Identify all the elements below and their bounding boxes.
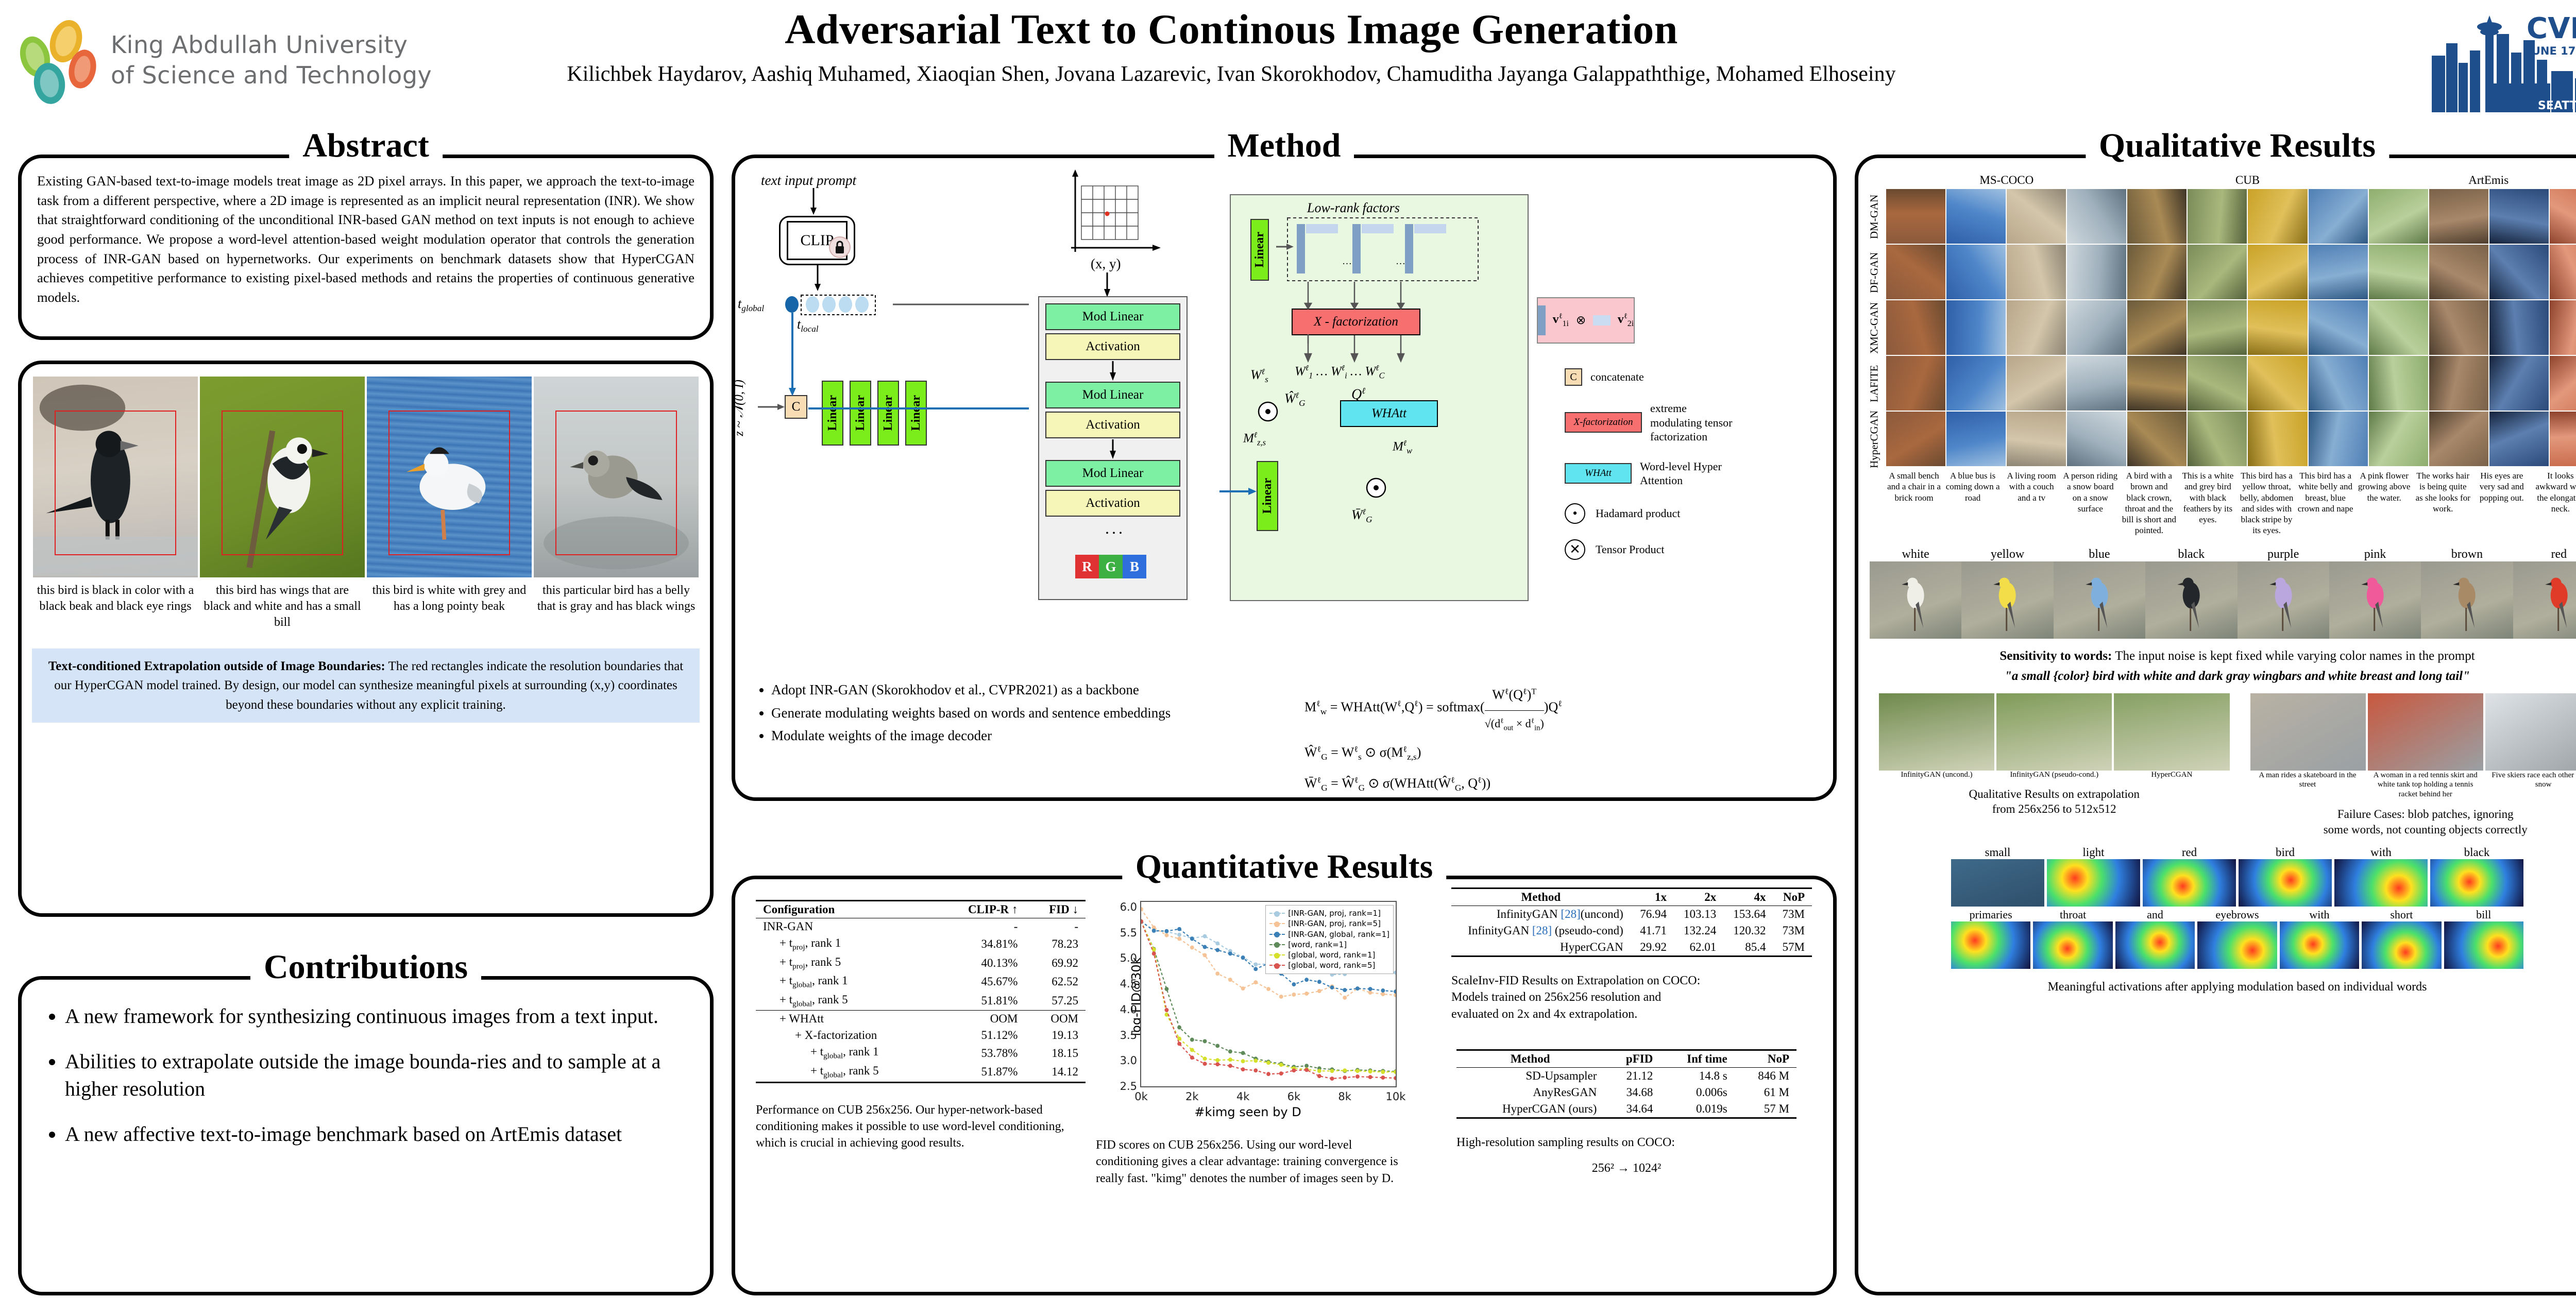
qualitative-generated-image xyxy=(2550,412,2576,466)
legend-row-tensor: ✕ Tensor Product xyxy=(1565,539,1738,560)
activation-word: eyebrows xyxy=(2197,908,2277,921)
scaleinv-caption-1: ScaleInv-FID Results on Extrapolation on… xyxy=(1451,972,1812,989)
arrow-dec-2-icon xyxy=(1108,439,1118,459)
method-section: Method text input prompt CLIP tglobal xyxy=(732,155,1837,801)
abstract-body: Existing GAN-based text-to-image models … xyxy=(22,158,710,307)
table-row: INR-GAN -- xyxy=(756,918,1086,935)
scaleinv-table-wrap: Method 1x 2x 4x NoP InfinityGAN [28](unc… xyxy=(1451,887,1812,1022)
column-header: 2x xyxy=(1674,889,1723,906)
qualitative-generated-image xyxy=(2067,300,2126,355)
qualitative-grid-row xyxy=(1886,189,2576,244)
legend-tensor-text: Tensor Product xyxy=(1596,543,1665,556)
color-bird-strip xyxy=(1870,561,2576,639)
cell-config: + tglobal, rank 5 xyxy=(756,1063,936,1082)
color-word: brown xyxy=(2421,548,2513,561)
tensor-product-icon: ⊗ xyxy=(1576,314,1586,327)
bird-caption-2: this bird has wings that are black and w… xyxy=(200,577,365,631)
cell-fid: OOM xyxy=(1025,1011,1086,1028)
cell-fid: 78.23 xyxy=(1025,935,1086,954)
subcap-2: A blue bus is coming down a road xyxy=(1945,470,2001,536)
v1-letter: v xyxy=(1553,313,1559,326)
t-global-label: tglobal xyxy=(738,296,764,314)
tensor-product-panel: vℓ1i ⊗ vℓ2i xyxy=(1537,297,1635,344)
chart-legend-item: [INR-GAN, global, rank=1] xyxy=(1269,929,1389,940)
failure-image xyxy=(2368,693,2483,771)
kaust-line-2: of Science and Technology xyxy=(111,60,432,91)
cell-pfid: 21.12 xyxy=(1604,1068,1660,1085)
equation-1: Mℓw = WHAtt(Wℓ,Qℓ) = softmax( Wℓ(Qℓ)T √(… xyxy=(1304,679,1562,737)
chart-ytick: 5.0 xyxy=(1120,952,1137,964)
qualitative-generated-image xyxy=(2489,189,2549,244)
what-hat-label: ŴℓG xyxy=(1284,391,1306,408)
activation-word: bird xyxy=(2239,846,2332,859)
author-list: Kilichbek Haydarov, Aashiq Muhamed, Xiao… xyxy=(453,62,2009,87)
cell-nop: 846 M xyxy=(1735,1068,1797,1085)
table-row: + tglobal, rank 5 51.87%14.12 xyxy=(756,1063,1086,1082)
svg-text:JUNE 17-21, 2024: JUNE 17-21, 2024 xyxy=(2527,45,2576,57)
activation-word: black xyxy=(2430,846,2523,859)
subcap-6: This is a white and grey bird with black… xyxy=(2180,470,2235,536)
failure-text: A woman in a red tennis skirt and white … xyxy=(2368,771,2483,799)
table-row: InfinityGAN [28](uncond) 76.94103.13 153… xyxy=(1451,906,1812,923)
cell-inf: 0.006s xyxy=(1660,1084,1734,1101)
cell-nop: 57M xyxy=(1773,939,1812,957)
list-item: Generate modulating weights based on wor… xyxy=(771,702,1171,725)
activation-heatmap xyxy=(2033,921,2112,969)
model-label-lafite: LAFITE xyxy=(1866,356,1883,412)
activation-word: throat xyxy=(2033,908,2112,921)
qualitative-grid-row xyxy=(1886,300,2576,355)
qualitative-generated-image xyxy=(2369,189,2428,244)
color-word: yellow xyxy=(1961,548,2053,561)
cell-fid: 14.12 xyxy=(1025,1063,1086,1082)
bird-image-2 xyxy=(200,377,365,577)
cell-clipr: 45.67% xyxy=(936,972,1025,992)
chart-legend-item: [word, rank=1] xyxy=(1269,940,1389,950)
mod-linear-2: Mod Linear xyxy=(1045,382,1180,408)
ablation-table: Configuration CLIP-R ↑ FID ↓ INR-GAN -- … xyxy=(756,900,1086,1083)
dataset-label-mscoco: MS-COCO xyxy=(1886,174,2127,187)
activation-words-row-1: small light red bird with black xyxy=(1951,846,2523,859)
qualitative-generated-image xyxy=(2067,356,2126,411)
color-variation-image xyxy=(1961,561,2053,639)
activation-1: Activation xyxy=(1045,333,1180,360)
cell-4x: 120.32 xyxy=(1723,923,1773,939)
qualitative-generated-image xyxy=(1946,245,2006,299)
extrapolation-labels: InfinityGAN (uncond.) InfinityGAN (pseud… xyxy=(1879,771,2230,779)
qualitative-generated-image xyxy=(2369,356,2428,411)
method-legend: C concatenate X-factorization extreme mo… xyxy=(1565,368,1738,575)
mod-linear-1: Mod Linear xyxy=(1045,303,1180,330)
color-variation-image xyxy=(2145,561,2237,639)
mod-linear-label-3: Mod Linear xyxy=(1082,466,1144,481)
lowrank-factors-icon: …… xyxy=(1276,215,1493,287)
cell-clipr: 51.87% xyxy=(936,1063,1025,1082)
legend-whatt-text: Word-level Hyper Attention xyxy=(1640,459,1722,488)
contributions-title: Contributions xyxy=(250,948,481,987)
highres-table: Method pFID Inf time NoP SD-Upsampler 21… xyxy=(1456,1049,1797,1119)
column-header: Method xyxy=(1456,1050,1604,1068)
list-item: Modulate weights of the image decoder xyxy=(771,724,1171,747)
model-label-dmgan: DM-GAN xyxy=(1866,189,1883,245)
qualitative-generated-image xyxy=(2489,245,2549,299)
model-label-xmcgan: XMC-GAN xyxy=(1866,300,1883,356)
resolution-boundary-rect-3 xyxy=(388,411,511,555)
extrap-caption-1: Qualitative Results on extrapolation xyxy=(1879,787,2230,802)
extrapolation-note: Text-conditioned Extrapolation outside o… xyxy=(32,648,700,723)
chart-caption: FID scores on CUB 256x256. Using our wor… xyxy=(1096,1137,1405,1187)
hyper-linear-top-label: Linear xyxy=(1253,232,1267,267)
qualitative-generated-image xyxy=(2127,412,2187,466)
qualitative-generated-image xyxy=(2369,245,2428,299)
chart-xlabel: #kimg seen by D xyxy=(1194,1105,1301,1119)
qualitative-generated-image xyxy=(2248,245,2307,299)
activation-heatmap xyxy=(2280,921,2359,969)
arrow-to-clip-icon xyxy=(808,188,819,215)
failure-labels: A man rides a skateboard in the street A… xyxy=(2250,771,2576,799)
activation-heatmap xyxy=(2430,859,2523,907)
subcap-8: This bird has a white belly and breast, … xyxy=(2298,470,2353,536)
mw-label: Mℓw xyxy=(1393,439,1412,456)
qualitative-generated-image xyxy=(2429,189,2488,244)
qualitative-generated-image xyxy=(1886,189,1945,244)
highres-caption-2: 256² → 1024² xyxy=(1456,1160,1797,1176)
kaust-line-1: King Abdullah University xyxy=(111,30,432,60)
qualitative-grid-row xyxy=(1886,356,2576,411)
activation-label-2: Activation xyxy=(1086,418,1140,432)
qualitative-generated-image xyxy=(2248,356,2307,411)
mw-letter: M xyxy=(1393,439,1403,453)
cell-1x: 29.92 xyxy=(1631,939,1674,957)
arrow-to-hyper-linear-icon xyxy=(1219,485,1257,498)
legend-row-whatt: WHAtt Word-level Hyper Attention xyxy=(1565,459,1738,488)
cell-fid: 19.13 xyxy=(1025,1027,1086,1044)
color-word: blue xyxy=(2054,548,2145,561)
poster-header: King Abdullah University of Science and … xyxy=(0,0,2576,124)
column-header: NoP xyxy=(1773,889,1812,906)
legend-row-hadamard: • Hadamard product xyxy=(1565,503,1738,524)
bird-cell-3: this bird is white with grey and has a l… xyxy=(367,377,532,631)
extrap-caption-2: from 256x256 to 512x512 xyxy=(1879,801,2230,817)
failure-caption-2: some words, not counting objects correct… xyxy=(2250,822,2576,838)
activation-source-image xyxy=(1951,859,2044,907)
failure-text: Five skiers race each other on the snow xyxy=(2486,771,2576,799)
concat-letter: C xyxy=(792,400,801,414)
dataset-label-cub: CUB xyxy=(2127,174,2368,187)
bird-image-row: this bird is black in color with a black… xyxy=(22,364,710,631)
extrapolation-image xyxy=(1879,693,1994,771)
qualitative-generated-image xyxy=(1946,189,2006,244)
activation-heatmap xyxy=(2362,921,2441,969)
subcap-1: A small bench and a chair in a brick roo… xyxy=(1886,470,1942,536)
cell-config: + tproj, rank 5 xyxy=(756,954,936,973)
qualitative-generated-image xyxy=(2127,189,2187,244)
page-title: Adversarial Text to Continous Image Gene… xyxy=(453,5,2009,54)
qualitative-generated-image xyxy=(2309,412,2368,466)
column-header: NoP xyxy=(1735,1050,1797,1068)
lowrank-factors-title: Low-rank factors xyxy=(1307,200,1400,216)
arrow-z-to-concat-icon xyxy=(758,400,785,414)
subcap-10: The works hair is being quite as she loo… xyxy=(2415,470,2471,536)
table-row: + X-factorization 51.12%19.13 xyxy=(756,1027,1086,1044)
chart-legend-item: [INR-GAN, proj, rank=1] xyxy=(1269,908,1389,918)
chart-ytick: 4.0 xyxy=(1120,1003,1137,1016)
extrapolation-block: InfinityGAN (uncond.) InfinityGAN (pseud… xyxy=(1879,693,2230,838)
whatt-label: WHAtt xyxy=(1371,406,1406,421)
abstract-title: Abstract xyxy=(289,126,443,165)
activation-maps-row-2 xyxy=(1951,921,2523,969)
qualitative-generated-image xyxy=(2550,356,2576,411)
activation-label-1: Activation xyxy=(1086,339,1140,354)
cell-1x: 41.71 xyxy=(1631,923,1674,939)
scaleinv-caption-3: evaluated on 2x and 4x extrapolation. xyxy=(1451,1006,1812,1022)
activation-block: small light red bird with black primarie… xyxy=(1858,838,2576,994)
subcap-4: A person riding a snow board on a snow s… xyxy=(2062,470,2118,536)
table-row: + WHAtt OOMOOM xyxy=(756,1011,1086,1028)
color-variation-image xyxy=(2329,561,2421,639)
activation-word: primaries xyxy=(1951,908,2030,921)
bird-caption-4: this particular bird has a belly that is… xyxy=(534,577,699,614)
cell-4x: 85.4 xyxy=(1723,939,1773,957)
qualitative-generated-image xyxy=(1886,356,1945,411)
mod-linear-label-1: Mod Linear xyxy=(1082,310,1144,324)
fid-convergence-chart: log-FID@30k [INR-GAN, proj, rank=1][INR-… xyxy=(1096,895,1400,1116)
extrapolation-images xyxy=(1879,693,2230,771)
column-header: Inf time xyxy=(1660,1050,1734,1068)
column-header: pFID xyxy=(1604,1050,1660,1068)
abstract-section: Abstract Existing GAN-based text-to-imag… xyxy=(18,155,714,340)
arrow-xy-to-decoder-icon xyxy=(1102,272,1112,297)
qualitative-generated-image xyxy=(1886,412,1945,466)
cell-method: AnyResGAN xyxy=(1456,1084,1604,1101)
sensitivity-quote: "a small {color} bird with white and dar… xyxy=(1871,667,2576,685)
qualitative-generated-image xyxy=(2007,356,2066,411)
cell-inf: 0.019s xyxy=(1660,1101,1734,1118)
table-row: + tproj, rank 5 40.13%69.92 xyxy=(756,954,1086,973)
qualitative-generated-image xyxy=(2188,412,2247,466)
what-hat-letter: Ŵ xyxy=(1284,391,1296,406)
wbar-letter: W̄ xyxy=(1351,507,1363,522)
bird-caption-1: this bird is black in color with a black… xyxy=(33,577,198,614)
column-header: Method xyxy=(1451,889,1631,906)
resolution-boundary-rect-1 xyxy=(55,411,177,555)
lock-icon xyxy=(829,236,851,258)
scaleinv-caption-2: Models trained on 256x256 resolution and xyxy=(1451,989,1812,1005)
xy-label: (x, y) xyxy=(1091,256,1121,272)
activation-heatmap xyxy=(2334,859,2428,907)
rgb-b: B xyxy=(1123,555,1146,578)
qualitative-generated-image xyxy=(2429,245,2488,299)
color-word: red xyxy=(2513,548,2576,561)
legend-hadamard-icon: • xyxy=(1565,503,1585,524)
extrapolation-image xyxy=(1996,693,2112,771)
equation-2: ŴℓG = Wℓs ⊙ σ(Mℓz,s) xyxy=(1304,737,1562,768)
qualitative-generated-image xyxy=(2429,300,2488,355)
qualitative-grid: DM-GAN DF-GAN XMC-GAN LAFITE HyperCGAN xyxy=(1858,189,2576,467)
activation-word: light xyxy=(2047,846,2140,859)
bird-image-3 xyxy=(367,377,532,577)
hyper-linear-bottom-label: Linear xyxy=(1261,478,1275,514)
cell-clipr: 34.81% xyxy=(936,935,1025,954)
sensitivity-rest: The input noise is kept fixed while vary… xyxy=(2112,649,2475,663)
sensitivity-caption: Sensitivity to words: The input noise is… xyxy=(1858,639,2576,685)
legend-concat-swatch: C xyxy=(1565,368,1582,386)
table-row: HyperCGAN (ours) 34.640.019s57 M xyxy=(1456,1101,1797,1118)
rgb-g: G xyxy=(1099,555,1123,578)
color-word: white xyxy=(1870,548,1961,561)
table-row: + tglobal, rank 1 45.67%62.52 xyxy=(756,972,1086,992)
svg-text:CVPR: CVPR xyxy=(2527,12,2576,45)
mzs-letter: M xyxy=(1243,431,1254,445)
cell-clipr: 51.12% xyxy=(936,1027,1025,1044)
list-item: A new affective text-to-image benchmark … xyxy=(65,1120,686,1148)
resolution-boundary-rect-4 xyxy=(555,411,677,555)
color-variation-image xyxy=(2238,561,2329,639)
model-label-hypercgan: HyperCGAN xyxy=(1866,412,1883,467)
activation-heatmap xyxy=(2115,921,2195,969)
failure-text: A man rides a skateboard in the street xyxy=(2250,771,2365,799)
cell-nop: 61 M xyxy=(1735,1084,1797,1101)
rgb-r: R xyxy=(1075,555,1099,578)
chart-xtick: 2k xyxy=(1185,1090,1199,1103)
extrap-label: InfinityGAN (pseudo-cond.) xyxy=(1996,771,2112,779)
qualitative-generated-image xyxy=(2248,412,2307,466)
qualitative-generated-image xyxy=(2309,245,2368,299)
qualitative-grid-row xyxy=(1886,245,2576,299)
qualitative-generated-image xyxy=(2550,245,2576,299)
svg-text:…: … xyxy=(1342,256,1352,267)
list-item: Adopt INR-GAN (Skorokhodov et al., CVPR2… xyxy=(771,678,1171,702)
list-item: Abilities to extrapolate outside the ima… xyxy=(65,1048,686,1103)
method-diagram: text input prompt CLIP tglobal xyxy=(735,158,1833,689)
qualitative-generated-image xyxy=(2309,189,2368,244)
equation-3: W̄ℓG = ŴℓG ⊙ σ(WHAtt(ŴℓG, Qℓ)) xyxy=(1304,768,1562,799)
qualitative-generated-image xyxy=(2309,300,2368,355)
qualitative-generated-image xyxy=(2067,245,2126,299)
failure-caption-1: Failure Cases: blob patches, ignoring xyxy=(2250,807,2576,822)
qualitative-generated-image xyxy=(2188,356,2247,411)
ablation-table-caption: Performance on CUB 256x256. Our hyper-ne… xyxy=(756,1102,1086,1152)
subcap-7: This bird has a yellow throat, belly, ab… xyxy=(2239,470,2294,536)
bird-image-1 xyxy=(33,377,198,577)
column-header: CLIP-R ↑ xyxy=(936,901,1025,918)
hyper-linear-bottom: Linear xyxy=(1257,461,1278,531)
cell-pfid: 34.68 xyxy=(1604,1084,1660,1101)
cell-method: HyperCGAN xyxy=(1451,939,1631,957)
cell-config: INR-GAN xyxy=(756,918,936,935)
qualitative-generated-image xyxy=(1946,300,2006,355)
table-row: + tproj, rank 1 34.81%78.23 xyxy=(756,935,1086,954)
subcap-12: It looks awkward with the elongated neck… xyxy=(2533,470,2576,536)
column-header: 1x xyxy=(1631,889,1674,906)
chart-ytick: 4.5 xyxy=(1120,978,1137,990)
arrows-to-xfact-icon xyxy=(1292,282,1426,344)
bird-cell-2: this bird has wings that are black and w… xyxy=(200,377,365,631)
activation-3: Activation xyxy=(1045,490,1180,517)
mod-linear-3: Mod Linear xyxy=(1045,460,1180,487)
table-row: InfinityGAN [28] (pseudo-cond) 41.71132.… xyxy=(1451,923,1812,939)
text-input-prompt-label: text input prompt xyxy=(761,173,856,189)
cell-method: InfinityGAN [28](uncond) xyxy=(1451,906,1631,923)
color-variation-image xyxy=(1870,561,1961,639)
subcap-9: A pink flower growing above the water. xyxy=(2357,470,2412,536)
cell-config: + WHAtt xyxy=(756,1011,936,1028)
chart-xtick: 0k xyxy=(1134,1090,1148,1103)
failure-image xyxy=(2485,693,2576,771)
activation-heatmap xyxy=(2143,859,2236,907)
qualitative-generated-image xyxy=(2007,189,2066,244)
qualitative-generated-image xyxy=(1946,412,2006,466)
color-word: black xyxy=(2145,548,2237,561)
cell-2x: 103.13 xyxy=(1674,906,1723,923)
method-equations: Mℓw = WHAtt(Wℓ,Qℓ) = softmax( Wℓ(Qℓ)T √(… xyxy=(1304,679,1562,798)
svg-text:…: … xyxy=(1396,256,1405,267)
qualitative-generated-image xyxy=(2188,189,2247,244)
ws-label: Wℓs xyxy=(1250,367,1268,385)
cell-nop: 73M xyxy=(1773,906,1812,923)
cell-fid: - xyxy=(1025,918,1086,935)
cell-config: + X-factorization xyxy=(756,1027,936,1044)
subcap-3: A living room with a couch and a tv xyxy=(2004,470,2059,536)
rgb-output: R G B xyxy=(1075,555,1146,578)
v2-letter: v xyxy=(1618,313,1624,326)
cell-2x: 132.24 xyxy=(1674,923,1723,939)
cell-config: + tglobal, rank 5 xyxy=(756,992,936,1011)
legend-xfact-text: extreme modulating tensor factorization xyxy=(1650,401,1738,444)
legend-hadamard-text: Hadamard product xyxy=(1596,507,1680,520)
bird-caption-3: this bird is white with grey and has a l… xyxy=(367,577,532,614)
bird-cell-4: this particular bird has a belly that is… xyxy=(534,377,699,631)
cell-clipr: - xyxy=(936,918,1025,935)
color-variation-image xyxy=(2513,561,2576,639)
legend-tensor-icon: ✕ xyxy=(1565,539,1585,560)
legend-row-xfact: X-factorization extreme modulating tenso… xyxy=(1565,401,1738,444)
model-label-dfgan: DF-GAN xyxy=(1866,245,1883,300)
qualitative-generated-image xyxy=(2007,300,2066,355)
cell-pfid: 34.64 xyxy=(1604,1101,1660,1118)
qualitative-generated-image xyxy=(2188,300,2247,355)
cell-clipr: OOM xyxy=(936,1011,1025,1028)
chart-legend-item: [global, word, rank=1] xyxy=(1269,950,1389,960)
qualitative-generated-image xyxy=(2489,356,2549,411)
qualitative-generated-image xyxy=(2127,245,2187,299)
activation-caption: Meaningful activations after applying mo… xyxy=(1951,980,2523,994)
color-variation-image xyxy=(2054,561,2145,639)
qualitative-generated-image xyxy=(2007,245,2066,299)
resolution-boundary-rect-2 xyxy=(222,411,344,555)
activation-word: bill xyxy=(2444,908,2523,921)
table-row: + tglobal, rank 1 53.78%18.15 xyxy=(756,1044,1086,1063)
cell-config: + tglobal, rank 1 xyxy=(756,972,936,992)
bird-image-4 xyxy=(534,377,699,577)
subcap-5: A bird with a brown and black crown, thr… xyxy=(2121,470,2177,536)
cell-config: + tproj, rank 1 xyxy=(756,935,936,954)
qualitative-generated-image xyxy=(2127,356,2187,411)
column-header: FID ↓ xyxy=(1025,901,1086,918)
activation-heatmap xyxy=(2047,859,2140,907)
extrapolation-image xyxy=(2114,693,2229,771)
cell-nop: 73M xyxy=(1773,923,1812,939)
activation-maps-row-1 xyxy=(1951,859,2523,907)
qualitative-generated-image xyxy=(2188,245,2247,299)
cell-clipr: 53.78% xyxy=(936,1044,1025,1063)
kaust-wordmark: King Abdullah University of Science and … xyxy=(111,30,432,91)
qualitative-generated-image xyxy=(2067,189,2126,244)
ablation-table-wrap: Configuration CLIP-R ↑ FID ↓ INR-GAN -- … xyxy=(756,900,1086,1152)
whatt-block: WHAtt xyxy=(1340,400,1438,427)
qualitative-title: Qualitative Results xyxy=(2086,126,2389,165)
scaleinv-table: Method 1x 2x 4x NoP InfinityGAN [28](unc… xyxy=(1451,887,1812,957)
